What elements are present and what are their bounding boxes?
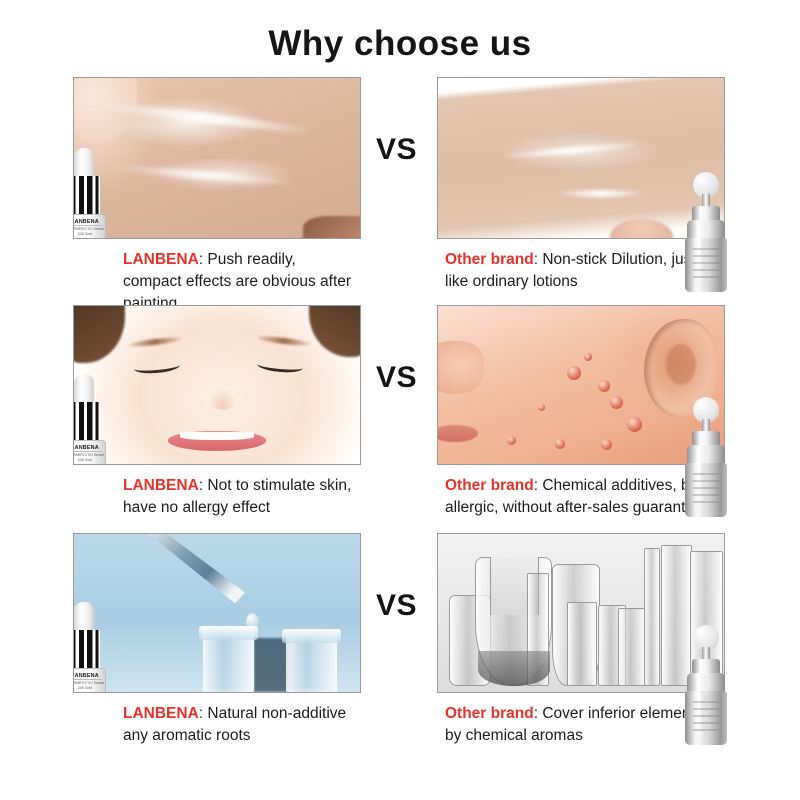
vs-label: VS	[376, 361, 417, 395]
our-product-side: LANBENA TEA PARFECTIO Serum 24K Gold Fac…	[73, 533, 363, 747]
caption-separator: :	[199, 251, 203, 268]
bottle-body: LANBENA TEA PARFECTIO Serum 24K Gold Fac…	[73, 440, 106, 465]
caption-separator: :	[199, 477, 203, 494]
bottle-neck	[73, 630, 100, 672]
comparison-row: LANBENA TEA PARFECTIO Serum 24K Gold Fac…	[0, 77, 800, 305]
brand-name: LANBENA	[123, 251, 199, 268]
bottle-neck	[73, 402, 100, 444]
page-title: Why choose us	[0, 0, 800, 61]
dropper-cap-icon	[74, 148, 94, 178]
bottle-subtitle-label: TEA PARFECTIO Serum 24K Gold	[73, 681, 105, 690]
bottle-subtitle-label: TEA PARFECTIO Serum 24K Gold	[73, 227, 105, 236]
vs-label: VS	[376, 589, 417, 623]
other-brand-side: Other brand: Non-stick Dilution, just li…	[437, 77, 727, 293]
bottle-body: LANBENA TEA PARFECTIO Serum 24K Gold Fac…	[73, 668, 106, 693]
comparison-row: LANBENA TEA PARFECTIO Serum 24K Gold Fac…	[0, 305, 800, 533]
caption-separator: :	[534, 705, 538, 722]
other-brand-bottle	[679, 397, 733, 517]
lanbena-bottle: LANBENA TEA PARFECTIO Serum 24K Gold Fac…	[73, 148, 108, 239]
caption: LANBENA: Natural non-additive any aromat…	[73, 703, 353, 747]
brand-name: Other brand	[445, 477, 534, 494]
caption: Other brand: Chemical additives, be alle…	[437, 475, 712, 519]
caption-separator: :	[199, 705, 203, 722]
caption: Other brand: Non-stick Dilution, just li…	[437, 249, 712, 293]
caption: Other brand: Cover inferior elements by …	[437, 703, 712, 747]
vs-label: VS	[376, 133, 417, 167]
comparison-infographic: Why choose us LANBENA	[0, 0, 800, 800]
lanbena-bottle: LANBENA TEA PARFECTIO Serum 24K Gold Fac…	[73, 374, 108, 465]
our-product-side: LANBENA TEA PARFECTIO Serum 24K Gold Fac…	[73, 305, 363, 519]
comparison-row: LANBENA TEA PARFECTIO Serum 24K Gold Fac…	[0, 533, 800, 761]
bottle-body: LANBENA TEA PARFECTIO Serum 24K Gold Fac…	[73, 214, 106, 239]
dropper-cap-icon	[74, 602, 94, 632]
brand-name: Other brand	[445, 705, 534, 722]
caption-separator: :	[534, 477, 538, 494]
other-brand-bottle	[679, 625, 733, 745]
caption: LANBENA: Not to stimulate skin, have no …	[73, 475, 353, 519]
comparison-rows: LANBENA TEA PARFECTIO Serum 24K Gold Fac…	[0, 77, 800, 761]
other-brand-bottle	[679, 172, 733, 292]
bottle-subtitle-label: TEA PARFECTIO Serum 24K Gold	[73, 453, 105, 462]
bottle-neck	[73, 176, 100, 218]
serum-absorbed-on-skin-photo: LANBENA TEA PARFECTIO Serum 24K Gold Fac…	[73, 77, 361, 239]
other-brand-side: Other brand: Chemical additives, be alle…	[437, 305, 727, 519]
other-brand-side: Other brand: Cover inferior elements by …	[437, 533, 727, 747]
dropper-cap-icon	[74, 374, 94, 404]
brand-name: LANBENA	[123, 705, 199, 722]
brand-name: LANBENA	[123, 477, 199, 494]
clear-skin-woman-photo: LANBENA TEA PARFECTIO Serum 24K Gold Fac…	[73, 305, 361, 465]
pipette-dropping-into-vials-photo: LANBENA TEA PARFECTIO Serum 24K Gold Fac…	[73, 533, 361, 693]
lanbena-bottle: LANBENA TEA PARFECTIO Serum 24K Gold Fac…	[73, 602, 108, 693]
our-product-side: LANBENA TEA PARFECTIO Serum 24K Gold Fac…	[73, 77, 363, 315]
caption-separator: :	[534, 251, 538, 268]
brand-name: Other brand	[445, 251, 534, 268]
